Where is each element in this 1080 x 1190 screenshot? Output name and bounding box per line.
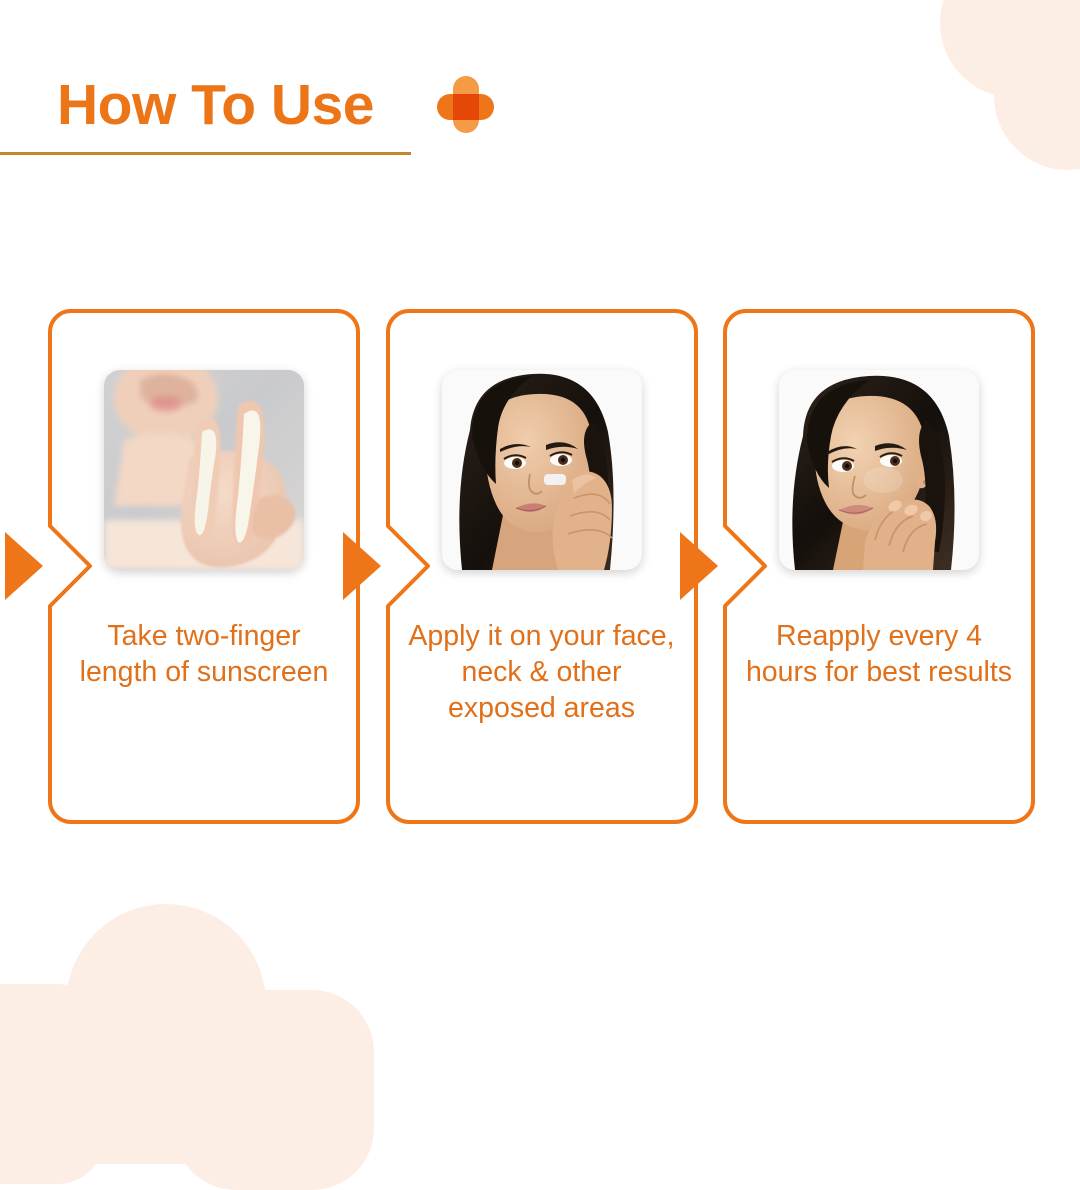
step-arrow-1 <box>3 528 49 604</box>
step-3-image <box>779 370 979 570</box>
step-card-2-content: Apply it on your face, neck & other expo… <box>387 310 697 823</box>
step-card-2[interactable]: Apply it on your face, neck & other expo… <box>387 310 697 823</box>
hand-with-two-fingers-of-sunscreen-photo <box>104 370 304 570</box>
title-underline-rule <box>0 152 411 155</box>
step-arrow-3 <box>678 528 724 604</box>
woman-applying-sunscreen-to-cheek-photo <box>442 370 642 570</box>
step-2-text: Apply it on your face, neck & other expo… <box>408 618 676 726</box>
step-1-text: Take two-finger length of sunscreen <box>70 618 338 690</box>
step-arrow-2 <box>341 528 387 604</box>
step-card-3[interactable]: Reapply every 4 hours for best results <box>724 310 1034 823</box>
decorative-shape-bottom-left-1 <box>66 904 266 1164</box>
step-1-image <box>104 370 304 570</box>
decorative-shape-bottom-left-3 <box>174 990 374 1190</box>
plus-icon <box>437 76 494 133</box>
step-2-image <box>442 370 642 570</box>
header: How To Use <box>0 70 1080 155</box>
steps-row: Take two-finger length of sunscreen <box>49 310 1034 823</box>
step-card-1-content: Take two-finger length of sunscreen <box>49 310 359 823</box>
decorative-shape-bottom-left-2 <box>0 984 104 1184</box>
page-title: How To Use <box>0 70 1080 140</box>
step-card-3-content: Reapply every 4 hours for best results <box>724 310 1034 823</box>
step-3-text: Reapply every 4 hours for best results <box>745 618 1013 690</box>
woman-touching-chin-glowing-skin-photo <box>779 370 979 570</box>
plus-icon-vertical-bar <box>453 76 479 133</box>
step-card-1[interactable]: Take two-finger length of sunscreen <box>49 310 359 823</box>
